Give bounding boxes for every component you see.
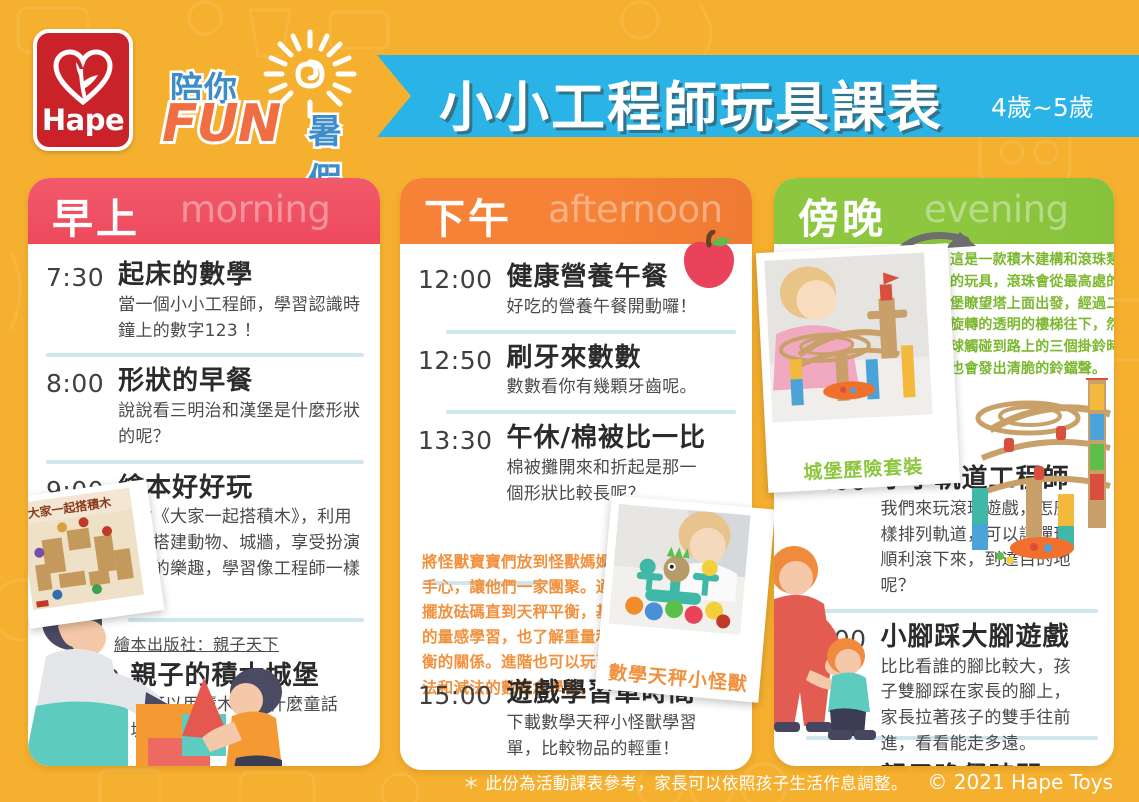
castle-adventure-photo: 城堡歷險套裝 <box>756 243 960 493</box>
parent-child-walking-illustration <box>774 544 880 744</box>
row-divider <box>446 330 736 334</box>
heart-leaf-icon <box>52 49 114 105</box>
column-morning: 早上 morning 7:30 起床的數學 當一個小小工程師，學習認識時鐘上的數… <box>28 178 380 766</box>
castle-marble-run-image <box>764 252 932 422</box>
row-desc: 下載數學天秤小怪獸學習單，比較物品的輕重！ <box>507 711 707 763</box>
row-title: 小腳踩大腳遊戲 <box>881 622 1098 653</box>
row-desc: 比比看誰的腳比較大，孩子雙腳踩在家長的腳上，家長拉著孩子的雙手往前進，看看能走多… <box>881 655 1079 758</box>
row-time: 18:00 <box>792 762 867 766</box>
footer: ＊ 此份為活動課表參考，家長可以依照孩子生活作息調整。 © 2021 Hape … <box>0 770 1139 794</box>
campaign-fun: FUN <box>162 94 280 154</box>
row-time: 12:00 <box>418 262 493 295</box>
row-time: 13:30 <box>418 423 493 456</box>
poster-canvas: Hape <box>0 0 1139 802</box>
monster-balance-toy-image <box>609 504 751 635</box>
row-desc: 說說看三明治和漢堡是什麼形狀的呢？ <box>118 399 364 451</box>
schedule-row[interactable]: 13:30 午休/棉被比一比 棉被攤開來和折起是那一個形狀比較長呢？ <box>400 423 752 507</box>
row-title: 午休/棉被比一比 <box>507 423 736 454</box>
row-desc: 數數看你有幾顆牙齒呢。 <box>507 375 736 401</box>
row-divider <box>46 353 364 357</box>
column-evening: 傍晚 evening 這是一款積木建構和滾珠類型的玩具，滾珠會從最高處的城堡瞭望… <box>774 178 1114 766</box>
column-title-en: evening <box>924 188 1069 231</box>
row-time: 7:30 <box>46 260 104 293</box>
schedule-row[interactable]: 8:00 形狀的早餐 說說看三明治和漢堡是什麼形狀的呢？ <box>28 366 380 450</box>
hape-logo: Hape <box>33 29 133 151</box>
schedule-row[interactable]: 18:00 親子晚餐時間 <box>774 762 1114 766</box>
row-title: 刷牙來數數 <box>507 343 736 374</box>
column-title-en: morning <box>180 188 330 231</box>
row-title: 親子晚餐時間 <box>881 762 1098 766</box>
column-title-cn: 傍晚 <box>798 185 886 245</box>
schedule-row[interactable]: 7:30 起床的數學 當一個小小工程師，學習認識時鐘上的數字123 ！ <box>28 260 380 344</box>
hape-logo-text: Hape <box>37 103 129 137</box>
picture-book-cover-image: 大家一起搭積木 <box>28 488 144 611</box>
marble-run-toy-cutout <box>938 378 1128 578</box>
row-time: 12:50 <box>418 343 493 376</box>
row-time: 8:00 <box>46 366 104 399</box>
schedule-row[interactable]: 12:50 刷牙來數數 數數看你有幾顆牙齒呢。 <box>400 343 752 402</box>
page-title: 小小工程師玩具課表 <box>439 63 943 142</box>
monster-balance-photo: 數學天秤小怪獸 <box>595 495 775 703</box>
row-desc: 當一個小小工程師，學習認識時鐘上的數字123 ！ <box>118 293 364 345</box>
row-divider <box>446 410 736 414</box>
row-divider <box>46 460 364 464</box>
campaign-lockup: 陪你 FUN 暑假 <box>160 36 375 146</box>
photo-caption: 城堡歷險套裝 <box>767 450 960 487</box>
row-title: 繪本好好玩 <box>118 473 364 504</box>
row-desc: 好吃的營養午餐開動囉！ <box>507 295 736 321</box>
age-range: 4歲~5歲 <box>991 88 1094 124</box>
row-title: 形狀的早餐 <box>118 366 364 397</box>
title-banner: 小小工程師玩具課表 4歲~5歲 <box>377 55 1139 137</box>
footer-copyright: © 2021 Hape Toys <box>927 770 1113 794</box>
picture-book-photo: 大家一起搭積木 <box>28 479 165 629</box>
column-title-en: afternoon <box>548 188 723 231</box>
column-afternoon: 下午 afternoon 12:00 健康營養午餐 好吃的營養午餐開動囉！ <box>400 178 752 770</box>
poster-header: Hape <box>0 0 1139 168</box>
column-header-morning: 早上 morning <box>28 178 380 244</box>
apple-icon <box>678 230 740 290</box>
column-title-cn: 下午 <box>424 185 512 245</box>
row-desc: 棉被攤開來和折起是那一個形狀比較長呢？ <box>507 456 703 508</box>
row-time: 15:00 <box>418 678 493 711</box>
footer-note: ＊ 此份為活動課表參考，家長可以依照孩子生活作息調整。 <box>463 774 908 793</box>
column-title-cn: 早上 <box>52 185 140 245</box>
row-title: 起床的數學 <box>118 260 364 291</box>
